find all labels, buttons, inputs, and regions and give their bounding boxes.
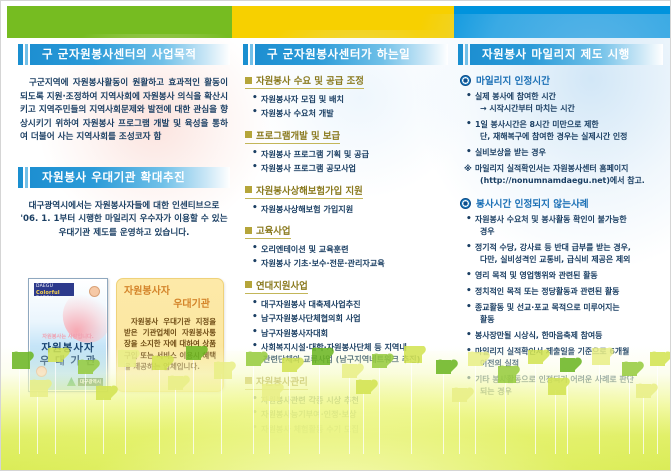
- left-section2-body: 대구광역시에서는 자원봉사자들에 대한 인센티브으로 '06. 1. 1부터 시…: [18, 196, 230, 241]
- bullseye-icon: [460, 75, 471, 86]
- service-item-continuation: 관련단체와 교류사업 (남구지역네트워크 추진): [261, 353, 448, 365]
- mileage-item: 실비보상을 받는 경우: [464, 147, 663, 159]
- header-tick-mark: [18, 44, 23, 65]
- mileage-group-label: 봉사시간 인정되지 않는사례: [476, 196, 589, 210]
- square-bullet-icon: [245, 186, 252, 193]
- service-group: 프로그램개발 및 보급자원봉사 프로그램 기획 및 공급자원봉사 프로그램 공모…: [245, 128, 448, 175]
- mileage-item: 종교활동 및 선교·포교 목적으로 미루어지는활동: [464, 302, 663, 326]
- mileage-item-continuation: 활동: [475, 314, 663, 326]
- right-group-list: 마일리지 인정시간실제 봉사에 참여한 시간→ 시작시간부터 마치는 시간1일 …: [458, 73, 663, 398]
- daegu-logo: DAEGU Colorful DAEGU: [34, 283, 74, 296]
- header-tick-mark: [458, 44, 463, 65]
- mileage-item-text: 봉사장만될 시상식, 한마음축제 참여등: [475, 331, 602, 340]
- mileage-item: 정치적인 목적 또는 정당활동과 관련된 활동: [464, 286, 663, 298]
- mileage-item-text: 정치적인 목적 또는 정당활동과 관련된 활동: [475, 287, 619, 296]
- mileage-group-label: 마일리지 인정시간: [476, 73, 550, 87]
- government-label: 대구광역시: [78, 378, 103, 386]
- service-item: 오리엔테이션 및 교육훈련: [249, 243, 448, 255]
- flower-stem: [175, 388, 176, 454]
- mileage-item: 봉사장만될 시상식, 한마음축제 참여등: [464, 330, 663, 342]
- mileage-item-text: 자원봉사 수요처 및 봉사활동 확인이 불가능한: [475, 215, 627, 224]
- mileage-item: 정기적 수당, 강사료 등 반대 급부를 받는 경우,다만, 실비성격인 교통비…: [464, 242, 663, 266]
- service-group: 고육사업오리엔테이션 및 교육훈련자원봉사 기초·보수·전문·관리자교육: [245, 223, 448, 270]
- service-group-title: 연대지원사업: [245, 278, 308, 294]
- mileage-item-continuation: 이전의 실적: [475, 358, 663, 370]
- service-group-label: 자원봉사 수요 및 공급 조정: [256, 73, 364, 87]
- service-item: 대구자원봉사 대축제사업추진: [249, 298, 448, 310]
- service-group-label: 자원봉사상해보험가입 지원: [256, 183, 363, 197]
- service-item-text: 남구자원봉사자대회: [261, 328, 328, 338]
- mileage-item: 영리 목적 및 영업행위와 관련된 활동: [464, 270, 663, 282]
- left-column: 구 군자원봉사센터의 사업목적 구군지역에 자원봉사활동이 원활하고 효과적인 …: [18, 44, 230, 240]
- mileage-item-continuation: 경우: [475, 226, 663, 238]
- banner-blue-segment: [454, 6, 671, 38]
- service-item-text: 자원봉사상해보험 가입지원: [261, 204, 353, 214]
- square-bullet-icon: [245, 131, 252, 138]
- service-item: 자원봉사 프로그램 공모사업: [249, 162, 448, 174]
- flower-stem: [103, 398, 104, 454]
- mileage-note: 마일리지 실적확인서는 자원봉사센터 홈페이지(http://nonumnamd…: [464, 163, 663, 187]
- service-group-title: 자원봉사관리: [245, 374, 308, 390]
- middle-group-list: 자원봉사 수요 및 공급 조정자원봉사자 모집 및 배치자원봉사 수요처 개발프…: [243, 73, 448, 435]
- service-item: 남구자원봉사단체협의회 사업: [249, 312, 448, 324]
- middle-section-header: 구 군자원봉사센터가 하는일: [243, 44, 448, 65]
- left-section2-title: 자원봉사 우대기관 확대추진: [42, 168, 226, 187]
- mileage-group-title: 봉사시간 인정되지 않는사례: [460, 196, 663, 210]
- note-body: 자원봉사 우대기관 지정을 받은 기관업체이 자원봉사통장을 소지한 자에 대하…: [124, 316, 216, 372]
- mileage-item: 1일 봉사시간은 8시간 미만으로 제한단, 재해복구에 참여한 경우는 실제시…: [464, 119, 663, 143]
- mileage-item-continuation: 단, 재해복구에 참여한 경우는 실제시간 인정: [475, 131, 663, 143]
- service-item-text: 자원봉사자 모집 및 배치: [261, 94, 344, 104]
- square-bullet-icon: [245, 377, 252, 384]
- square-bullet-icon: [245, 227, 252, 234]
- mileage-item: 실제 봉사에 참여한 시간→ 시작시간부터 마치는 시간: [464, 91, 663, 115]
- card-title-line2: 우 대 기 관: [29, 355, 107, 368]
- mileage-item-text: 영리 목적 및 영업행위와 관련된 활동: [475, 271, 598, 280]
- card-title: 자원봉사자 우 대 기 관: [29, 342, 107, 368]
- note-title-line2: 우대기관: [124, 298, 216, 311]
- service-item-text: 자원봉사능기부여·인정·보상: [261, 409, 357, 419]
- header-tick-mark-secondary: [25, 44, 28, 65]
- mileage-group-title: 마일리지 인정시간: [460, 73, 663, 87]
- mileage-item-text: 기타 봉사활동으로 인정되기 어려운 사례로 판단: [475, 375, 634, 384]
- service-group-title: 자원봉사상해보험가입 지원: [245, 183, 363, 199]
- flower-stem: [19, 364, 20, 454]
- service-item-text: 자원봉사관련 각종 시상 추천: [261, 395, 359, 405]
- bullseye-icon: [460, 198, 471, 209]
- service-item: 남구자원봉사자대회: [249, 327, 448, 339]
- service-group-label: 연대지원사업: [256, 278, 308, 292]
- header-tick-mark-secondary: [250, 44, 253, 65]
- service-item-text: 자원봉사 프로그램 기획 및 공급: [261, 149, 369, 159]
- top-color-banner: [7, 6, 671, 38]
- volunteer-card-image: DAEGU Colorful DAEGU 자원봉사는 사랑입니다. 자원봉사자 …: [28, 278, 108, 392]
- brochure-page: 구 군자원봉사센터의 사업목적 구군지역에 자원봉사활동이 원활하고 효과적인 …: [0, 0, 671, 471]
- banner-yellow-segment: [232, 6, 454, 38]
- square-bullet-icon: [245, 77, 252, 84]
- right-section-header: 자원봉사 마일리지 제도 시행: [458, 44, 663, 65]
- note-title-line1: 자원봉사자: [124, 285, 216, 298]
- banner-green-segment: [7, 6, 232, 38]
- left-section2-header: 자원봉사 우대기관 확대추진: [18, 167, 230, 188]
- service-item-text: 자원봉사 기초·보수·전문·관리자교육: [261, 258, 385, 268]
- promo-block: DAEGU Colorful DAEGU 자원봉사는 사랑입니다. 자원봉사자 …: [28, 278, 224, 396]
- header-tick-mark-secondary: [25, 167, 28, 188]
- mileage-note-text: 마일리지 실적확인서는 자원봉사센터 홈페이지: [475, 164, 628, 173]
- service-group-title: 프로그램개발 및 보급: [245, 128, 340, 144]
- mileage-item-continuation: 되는 경우: [475, 386, 663, 398]
- service-group-title: 고육사업: [245, 223, 291, 239]
- character-face-top: [89, 286, 100, 297]
- service-item-text: 사회복지시설·대학·자원봉사단체 등 지역내: [261, 342, 407, 352]
- service-item-text: 오리엔테이션 및 교육훈련: [261, 244, 349, 254]
- mileage-item: 마일리지 실적확인서 제출일을 기준으로 6개월이전의 실적: [464, 346, 663, 370]
- service-item-text: 자원봉사 체험활동 수기 모집: [261, 424, 359, 434]
- mileage-item-continuation: 다만, 실비성격인 교통비, 급식비 제공은 제외: [475, 254, 663, 266]
- square-bullet-icon: [245, 281, 252, 288]
- service-item: 사회복지시설·대학·자원봉사단체 등 지역내관련단체와 교류사업 (남구지역네트…: [249, 341, 448, 366]
- mileage-group: 마일리지 인정시간실제 봉사에 참여한 시간→ 시작시간부터 마치는 시간1일 …: [460, 73, 663, 187]
- service-group-label: 프로그램개발 및 보급: [256, 128, 340, 142]
- service-group: 자원봉사관리자원봉사관련 각종 시상 추천자원봉사능기부여·인정·보상자원봉사 …: [245, 374, 448, 435]
- service-item: 자원봉사 체험활동 수기 모집: [249, 423, 448, 435]
- mileage-item-continuation: → 시작시간부터 마치는 시간: [475, 103, 663, 115]
- mileage-item-text: 정기적 수당, 강사료 등 반대 급부를 받는 경우,: [475, 243, 631, 252]
- header-tick-mark: [243, 44, 248, 65]
- mileage-item-text: 1일 봉사시간은 8시간 미만으로 제한: [475, 120, 599, 129]
- service-item: 자원봉사 수요처 개발: [249, 107, 448, 119]
- service-item: 자원봉사관련 각종 시상 추천: [249, 394, 448, 406]
- service-group: 자원봉사상해보험가입 지원자원봉사상해보험 가입지원: [245, 183, 448, 215]
- middle-section-title: 구 군자원봉사센터가 하는일: [267, 45, 444, 64]
- left-section1-body: 구군지역에 자원봉사활동이 원활하고 효과적인 활동이 되도록 지원·조정하여 …: [18, 73, 230, 145]
- flower-stem: [37, 392, 38, 454]
- logo-line3: DAEGU: [36, 296, 53, 301]
- mileage-item-text: 종교활동 및 선교·포교 목적으로 미루어지는: [475, 303, 620, 312]
- service-group-label: 고육사업: [256, 223, 291, 237]
- service-item: 자원봉사능기부여·인정·보상: [249, 408, 448, 420]
- service-item-text: 자원봉사 프로그램 공모사업: [261, 163, 356, 173]
- service-group-label: 자원봉사관리: [256, 374, 308, 388]
- service-group: 연대지원사업대구자원봉사 대축제사업추진남구자원봉사단체협의회 사업남구자원봉사…: [245, 278, 448, 366]
- mileage-item: 자원봉사 수요처 및 봉사활동 확인이 불가능한경우: [464, 214, 663, 238]
- middle-column: 구 군자원봉사센터가 하는일 자원봉사 수요 및 공급 조정자원봉사자 모집 및…: [243, 44, 448, 443]
- service-item: 자원봉사 프로그램 기획 및 공급: [249, 148, 448, 160]
- yellow-note-box: 자원봉사자 우대기관 자원봉사 우대기관 지정을 받은 기관업체이 자원봉사통장…: [116, 278, 224, 392]
- service-item-text: 남구자원봉사단체협의회 사업: [261, 313, 361, 323]
- left-section1-header: 구 군자원봉사센터의 사업목적: [18, 44, 230, 65]
- mileage-item-text: 실비보상을 받는 경우: [475, 148, 546, 157]
- flower-stem: [459, 400, 460, 454]
- right-section-title: 자원봉사 마일리지 제도 시행: [482, 45, 659, 64]
- card-subtitle: 자원봉사는 사랑입니다.: [29, 333, 107, 340]
- left-section1-title: 구 군자원봉사센터의 사업목적: [42, 45, 226, 64]
- volunteer-center-url[interactable]: (http://nonumnamdaegu.net)에서 참고.: [475, 175, 663, 187]
- government-mark: 대구광역시: [67, 377, 103, 386]
- header-tick-mark-secondary: [465, 44, 468, 65]
- card-title-line1: 자원봉사자: [29, 342, 107, 355]
- logo-line1: DAEGU: [36, 284, 53, 289]
- mountain-icon: [67, 377, 76, 386]
- header-tick-mark: [18, 167, 23, 188]
- mileage-item-text: 실제 봉사에 참여한 시간: [475, 92, 556, 101]
- service-item: 자원봉사 기초·보수·전문·관리자교육: [249, 257, 448, 269]
- service-item: 자원봉사자 모집 및 배치: [249, 93, 448, 105]
- mileage-item: 기타 봉사활동으로 인정되기 어려운 사례로 판단되는 경우: [464, 374, 663, 398]
- service-group: 자원봉사 수요 및 공급 조정자원봉사자 모집 및 배치자원봉사 수요처 개발: [245, 73, 448, 120]
- service-item: 자원봉사상해보험 가입지원: [249, 203, 448, 215]
- service-item-text: 대구자원봉사 대축제사업추진: [261, 299, 361, 309]
- service-group-title: 자원봉사 수요 및 공급 조정: [245, 73, 364, 89]
- right-column: 자원봉사 마일리지 제도 시행 마일리지 인정시간실제 봉사에 참여한 시간→ …: [458, 44, 663, 407]
- mileage-group: 봉사시간 인정되지 않는사례자원봉사 수요처 및 봉사활동 확인이 불가능한경우…: [460, 196, 663, 398]
- service-item-text: 자원봉사 수요처 개발: [261, 108, 334, 118]
- mileage-item-text: 마일리지 실적확인서 제출일을 기준으로 6개월: [475, 347, 629, 356]
